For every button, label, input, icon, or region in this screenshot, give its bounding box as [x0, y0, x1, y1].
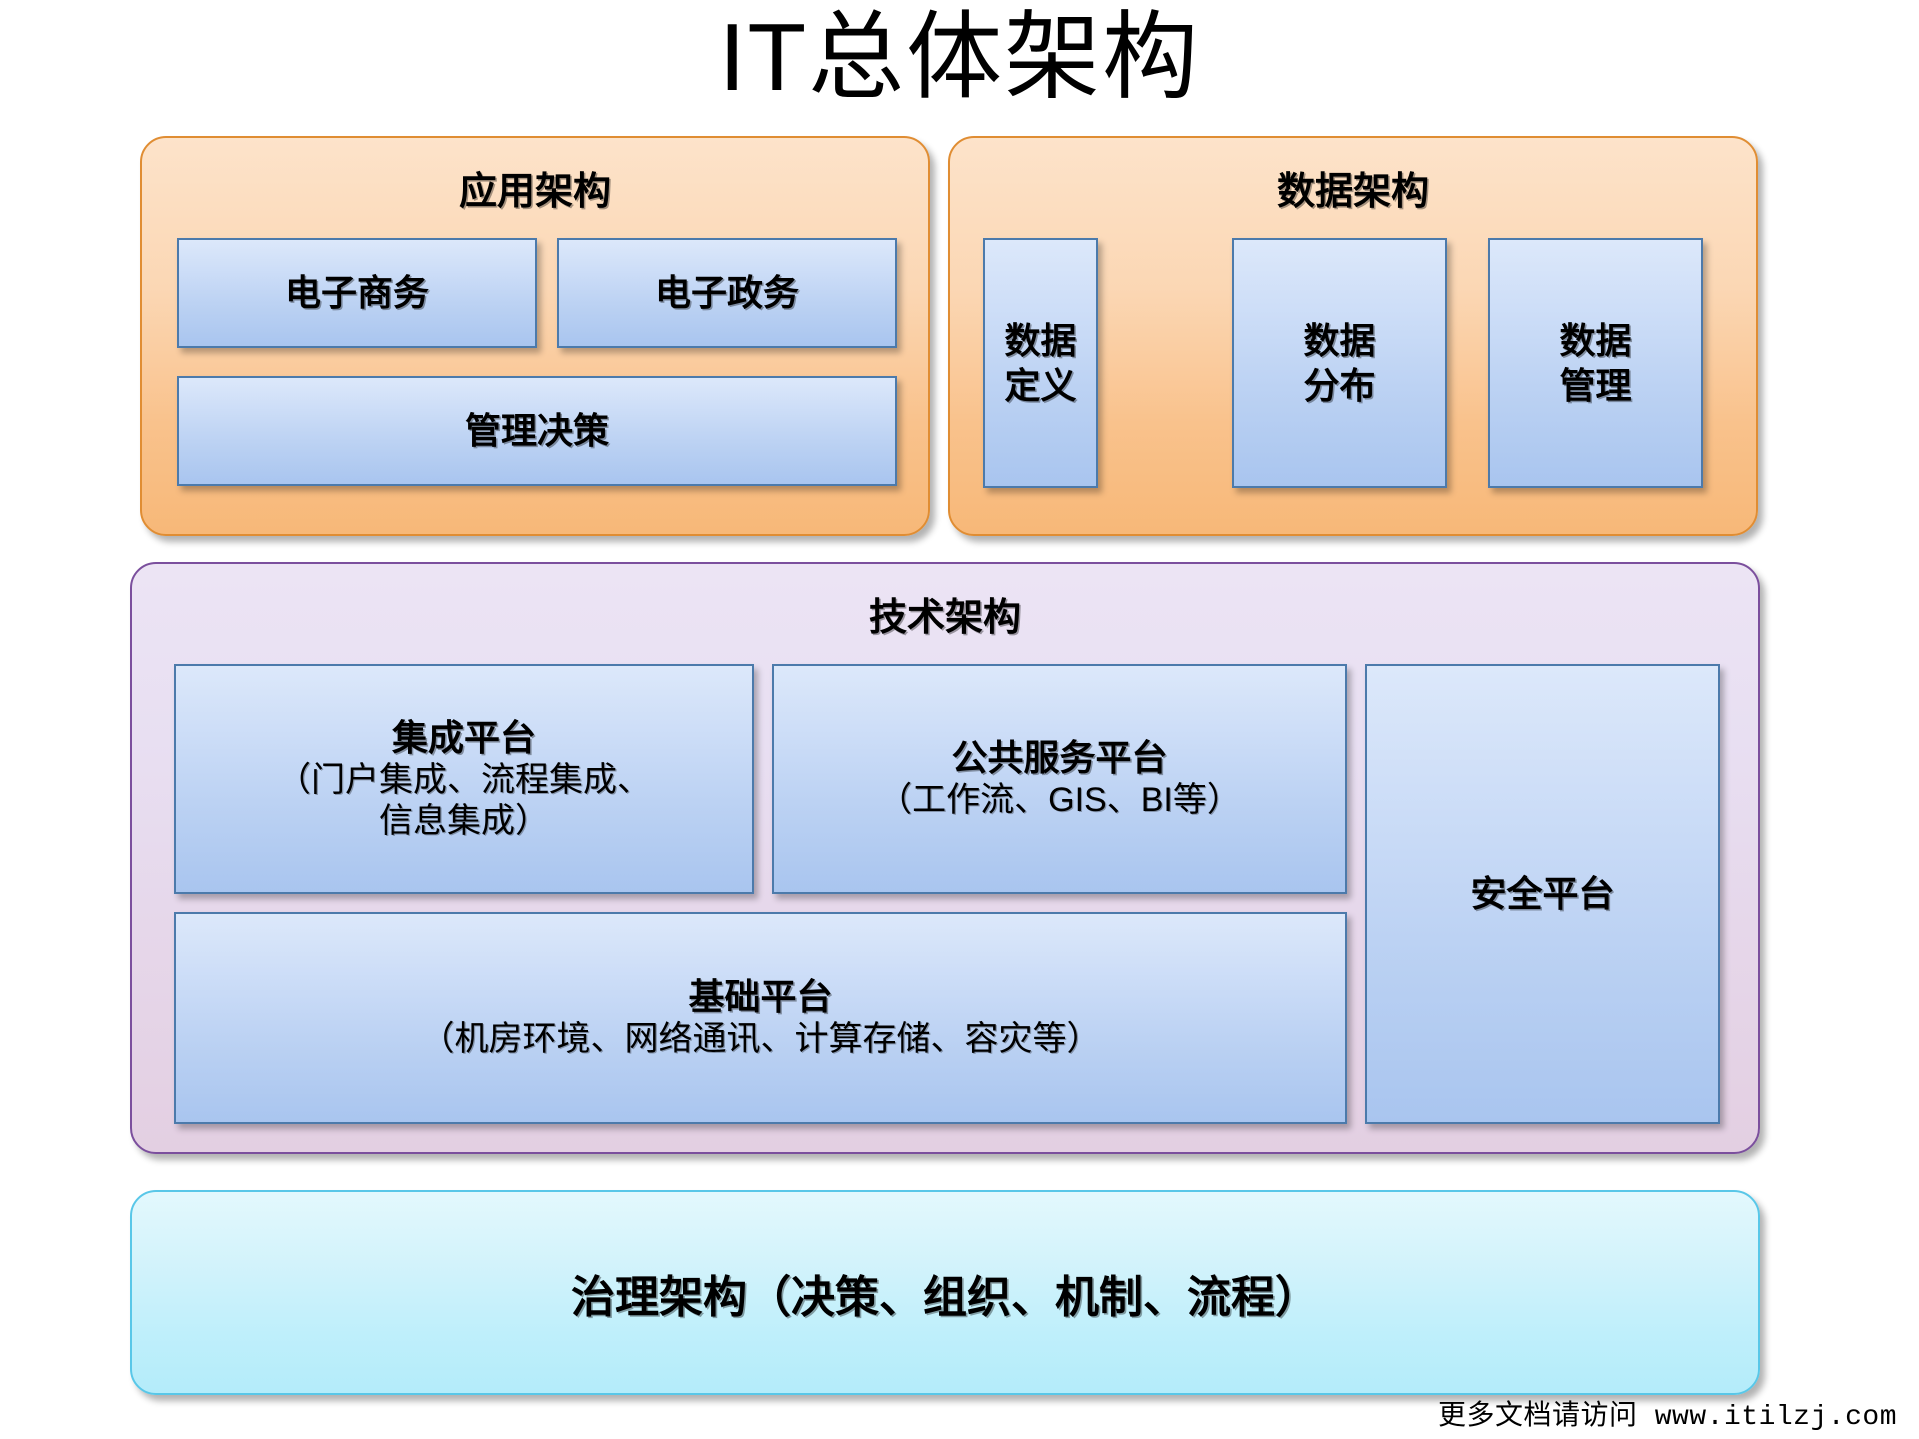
box-security-platform[interactable]: 安全平台	[1365, 664, 1720, 1124]
application-architecture-heading: 应用架构	[142, 160, 928, 215]
box-data-distribution[interactable]: 数据 分布	[1232, 238, 1447, 488]
box-public-service-platform[interactable]: 公共服务平台 （工作流、GIS、BI等）	[772, 664, 1347, 894]
box-data-management[interactable]: 数据 管理	[1488, 238, 1703, 488]
box-egovernment[interactable]: 电子政务	[557, 238, 897, 348]
governance-architecture-container[interactable]: 治理架构（决策、组织、机制、流程）	[130, 1190, 1760, 1395]
box-integration-platform[interactable]: 集成平台 （门户集成、流程集成、 信息集成）	[174, 664, 754, 894]
technical-architecture-heading: 技术架构	[132, 586, 1758, 641]
application-architecture-container: 应用架构 电子商务 电子政务 管理决策	[140, 136, 930, 536]
box-data-definition[interactable]: 数据 定义	[983, 238, 1098, 488]
box-ecommerce[interactable]: 电子商务	[177, 238, 537, 348]
page-title: IT总体架构	[0, 8, 1919, 109]
footer-watermark: 更多文档请访问 www.itilzj.com	[1438, 1393, 1897, 1433]
box-management-decision[interactable]: 管理决策	[177, 376, 897, 486]
technical-architecture-container: 技术架构 集成平台 （门户集成、流程集成、 信息集成） 公共服务平台 （工作流、…	[130, 562, 1760, 1154]
data-architecture-heading: 数据架构	[950, 160, 1756, 215]
box-base-platform[interactable]: 基础平台 （机房环境、网络通讯、计算存储、容灾等）	[174, 912, 1347, 1124]
data-architecture-container: 数据架构 数据 定义 数据 分布 数据 管理	[948, 136, 1758, 536]
governance-architecture-label: 治理架构（决策、组织、机制、流程）	[571, 1261, 1319, 1325]
